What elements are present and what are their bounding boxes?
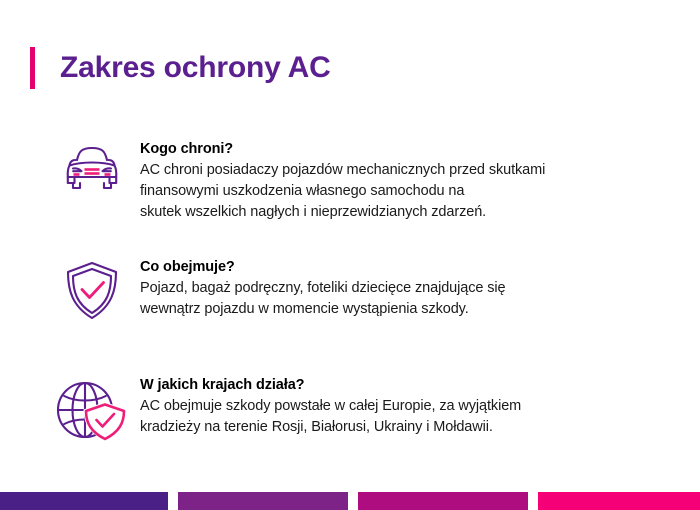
block-body: AC obejmuje szkody powstałe w całej Euro… [140, 396, 684, 438]
globe-shield-icon [44, 376, 140, 444]
block-heading: W jakich krajach działa? [140, 376, 684, 395]
info-block-text: Kogo chroni? AC chroni posiadaczy pojazd… [140, 140, 684, 223]
bottom-bar-segment [0, 492, 168, 510]
block-heading: Co obejmuje? [140, 258, 684, 277]
page-title-text: Zakres ochrony AC [60, 47, 331, 89]
bottom-bar-gap [528, 492, 538, 510]
title-accent-bar [30, 47, 35, 89]
body-line: AC chroni posiadaczy pojazdów mechaniczn… [140, 160, 684, 181]
shield-check-icon [44, 258, 140, 322]
info-block-text: W jakich krajach działa? AC obejmuje szk… [140, 376, 684, 438]
bottom-bar-gap [348, 492, 358, 510]
body-line: kradzieży na terenie Rosji, Białorusi, U… [140, 417, 684, 438]
bottom-bar-gap [168, 492, 178, 510]
bottom-color-bar [0, 492, 700, 510]
info-block-text: Co obejmuje? Pojazd, bagaż podręczny, fo… [140, 258, 684, 320]
block-body: Pojazd, bagaż podręczny, foteliki dzieci… [140, 278, 684, 320]
body-line: finansowymi uszkodzenia własnego samocho… [140, 181, 684, 202]
body-line: AC obejmuje szkody powstałe w całej Euro… [140, 396, 684, 417]
body-line: wewnątrz pojazdu w momencie wystąpienia … [140, 299, 684, 320]
bottom-bar-segment [178, 492, 348, 510]
block-heading: Kogo chroni? [140, 140, 684, 159]
body-line: Pojazd, bagaż podręczny, foteliki dzieci… [140, 278, 684, 299]
page-title: Zakres ochrony AC [30, 46, 331, 90]
body-line: skutek wszelkich nagłych i nieprzewidzia… [140, 202, 684, 223]
car-front-icon [44, 140, 140, 192]
info-block-kogo-chroni: Kogo chroni? AC chroni posiadaczy pojazd… [44, 140, 684, 223]
info-block-w-jakich-krajach: W jakich krajach działa? AC obejmuje szk… [44, 376, 684, 444]
bottom-bar-segment [358, 492, 528, 510]
bottom-bar-segment [538, 492, 700, 510]
info-block-co-obejmuje: Co obejmuje? Pojazd, bagaż podręczny, fo… [44, 258, 684, 322]
block-body: AC chroni posiadaczy pojazdów mechaniczn… [140, 160, 684, 223]
